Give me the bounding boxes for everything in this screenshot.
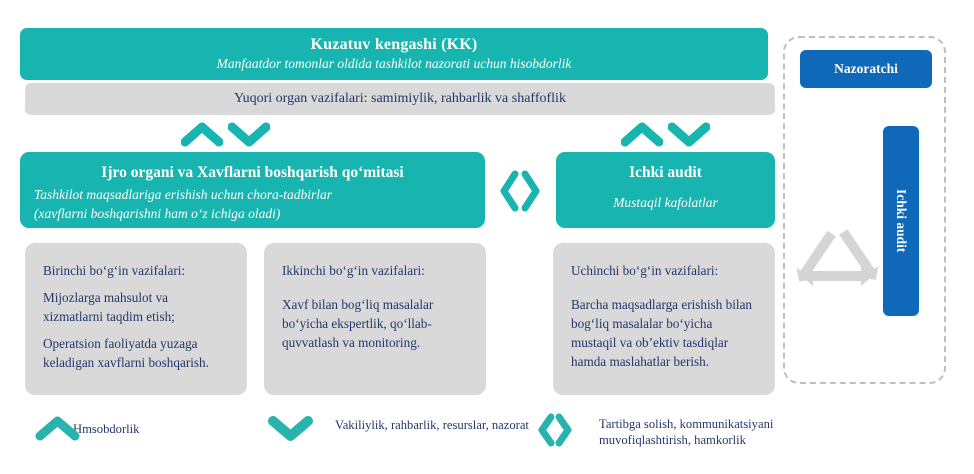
diagram-canvas: Kuzatuv kengashi (KK) Manfaatdor tomonla… xyxy=(0,0,974,474)
governing-body-duties-text: Yuqori organ vazifalari: samimiylik, rah… xyxy=(234,91,566,107)
third-line-heading: Uchinchi bo‘g‘in vazifalari: xyxy=(571,261,759,280)
executive-body-box: Ijro organi va Xavflarni boshqarish qo‘m… xyxy=(20,152,485,228)
chevron-up-icon xyxy=(621,121,663,147)
third-line-duties-box: Uchinchi bo‘g‘in vazifalari: Barcha maqs… xyxy=(553,243,775,395)
chevron-down-icon xyxy=(668,121,710,147)
internal-audit-vertical-box: Ichki audit xyxy=(883,126,919,316)
connector-chevrons-right xyxy=(621,121,710,147)
second-line-duties-box: Ikkinchi bo‘g‘in vazifalari: Xavf bilan … xyxy=(264,243,486,395)
triangular-double-arrows-icon xyxy=(793,200,883,286)
legend-item-accountability: Hmsobdorlik xyxy=(35,414,139,437)
legend-label-delegation: Vakiliylik, rahbarlik, resurslar, nazora… xyxy=(335,417,529,433)
angle-brackets-icon xyxy=(496,168,544,214)
chevron-up-icon xyxy=(181,121,223,147)
governing-body-duties-bar: Yuqori organ vazifalari: samimiylik, rah… xyxy=(25,83,775,115)
connector-chevrons-left xyxy=(181,121,270,147)
internal-audit-vertical-label: Ichki audit xyxy=(893,189,909,252)
first-line-para1: Mijozlarga mahsulot va xizmatlarni taqdi… xyxy=(43,288,231,326)
legend-label-delegation-text: Vakiliylik, rahbarlik, resurslar, nazora… xyxy=(335,417,529,433)
second-line-heading: Ikkinchi bo‘g‘in vazifalari: xyxy=(282,261,470,280)
first-line-para2: Operatsion faoliyatda yuzaga keladigan x… xyxy=(43,334,231,372)
legend-item-delegation: Vakiliylik, rahbarlik, resurslar, nazora… xyxy=(268,414,529,442)
executive-body-title: Ijro organi va Xavflarni boshqarish qo‘m… xyxy=(34,162,471,183)
executive-body-subtitle-line1: Tashkilot maqsadlariga erishish uchun ch… xyxy=(34,185,471,204)
chevron-up-icon xyxy=(35,414,80,442)
first-line-heading: Birinchi bo‘g‘in vazifalari: xyxy=(43,261,231,280)
supervisory-board-title: Kuzatuv kengashi (KK) xyxy=(311,35,478,55)
supervisor-label: Nazoratchi xyxy=(834,61,898,77)
third-line-para1: Barcha maqsadlarga erishish bilan bog‘li… xyxy=(571,295,759,371)
legend-label-coordination-text: Tartibga solish, kommunikatsiyani muvofi… xyxy=(599,416,829,448)
angle-brackets-icon xyxy=(535,410,575,450)
legend-item-coordination: Tartibga solish, kommunikatsiyani muvofi… xyxy=(535,410,829,450)
internal-audit-box: Ichki audit Mustaqil kafolatlar xyxy=(556,152,775,228)
supervisor-box: Nazoratchi xyxy=(800,50,932,88)
chevron-down-icon xyxy=(228,121,270,147)
supervisory-board-subtitle: Manfaatdor tomonlar oldida tashkilot naz… xyxy=(217,55,572,73)
chevron-down-icon xyxy=(268,414,313,442)
first-line-duties-box: Birinchi bo‘g‘in vazifalari: Mijozlarga … xyxy=(25,243,247,395)
supervisory-board-header: Kuzatuv kengashi (KK) Manfaatdor tomonla… xyxy=(20,28,768,80)
legend-label-coordination: Tartibga solish, kommunikatsiyani muvofi… xyxy=(599,416,829,448)
legend-label-accountability: Hmsobdorlik xyxy=(73,421,139,437)
second-line-para1: Xavf bilan bog‘liq masalalar bo‘yicha ek… xyxy=(282,295,470,352)
internal-audit-title: Ichki audit xyxy=(570,162,761,183)
executive-body-subtitle-line2: (xavflarni boshqarishni ham o‘z ichiga o… xyxy=(34,204,471,223)
internal-audit-subtitle: Mustaqil kafolatlar xyxy=(570,193,761,212)
